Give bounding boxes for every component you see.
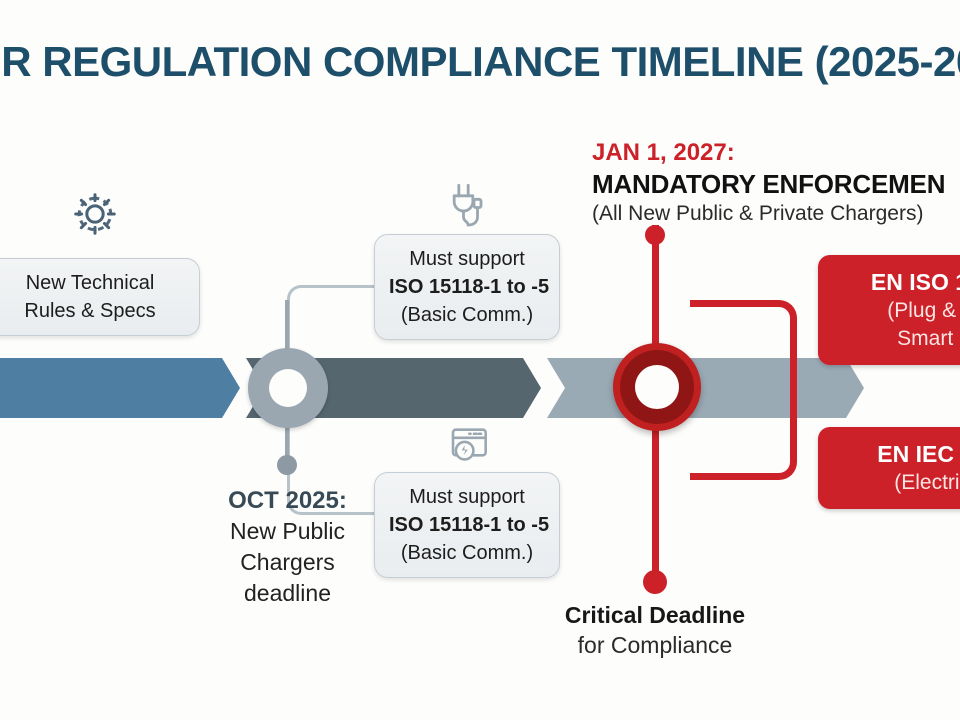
card-tech-line2: Rules & Specs — [0, 297, 185, 325]
connector-red-to-badge-top — [690, 300, 797, 392]
page-title: R REGULATION COMPLIANCE TIMELINE (2025-2… — [0, 38, 960, 86]
card-lower-line1: Must support — [389, 483, 545, 511]
card-lower-line2: ISO 15118-1 to -5 — [389, 511, 545, 539]
card-iso-lower[interactable]: Must support ISO 15118-1 to -5 (Basic Co… — [374, 472, 560, 578]
badge-bot-sub1: (Electrica — [834, 469, 960, 497]
card-lower-line3: (Basic Comm.) — [389, 539, 545, 567]
card-upper-line2: ISO 15118-1 to -5 — [389, 273, 545, 301]
oct-line1: New Public — [180, 516, 395, 547]
badge-en-iec-61851[interactable]: EN IEC 618 (Electrica — [818, 427, 960, 509]
left-milestone-line1: & — [0, 511, 15, 542]
left-milestone-label: 5: & ts — [0, 480, 15, 573]
certificate-browser-icon — [437, 418, 497, 474]
gear-icon — [65, 186, 125, 242]
badge-en-iso-15118[interactable]: EN ISO 1511 (Plug & Ch Smart Cl — [818, 255, 960, 365]
timeline-segment-early — [0, 358, 240, 418]
badge-top-sub1: (Plug & Ch — [834, 297, 960, 325]
oct-2025-label: OCT 2025: New Public Chargers deadline — [180, 485, 395, 609]
oct-line3: deadline — [180, 578, 395, 609]
jan-2027-date: JAN 1, 2027: — [592, 138, 960, 168]
critical-deadline-label: Critical Deadline for Compliance — [530, 600, 780, 660]
infographic-canvas: R REGULATION COMPLIANCE TIMELINE (2025-2… — [0, 0, 960, 720]
jan-2027-headline: MANDATORY ENFORCEMEN — [592, 168, 960, 200]
critical-deadline-line1: Critical Deadline — [530, 600, 780, 630]
card-iso-upper[interactable]: Must support ISO 15118-1 to -5 (Basic Co… — [374, 234, 560, 340]
jan-2027-node-marker[interactable] — [613, 343, 701, 431]
oct-node-end-dot — [277, 455, 297, 475]
jan-2027-milestone-label: JAN 1, 2027: MANDATORY ENFORCEMEN (All N… — [592, 138, 960, 228]
badge-top-sub2: Smart Cl — [834, 325, 960, 353]
oct-line2: Chargers — [180, 547, 395, 578]
card-tech-line1: New Technical — [0, 269, 185, 297]
plug-icon — [437, 176, 497, 232]
red-node-top-dot — [645, 225, 665, 245]
badge-bot-title: EN IEC 618 — [834, 439, 960, 469]
oct-2025-node-marker[interactable] — [248, 348, 328, 428]
left-milestone-date: 5: — [0, 480, 15, 511]
card-upper-line1: Must support — [389, 245, 545, 273]
connector-red-to-badge-bottom — [690, 388, 797, 480]
red-node-bottom-dot — [643, 570, 667, 594]
jan-2027-subtitle: (All New Public & Private Chargers) — [592, 200, 960, 228]
critical-deadline-line2: for Compliance — [530, 630, 780, 660]
left-milestone-line2: ts — [0, 542, 15, 573]
card-new-technical-rules[interactable]: New Technical Rules & Specs — [0, 258, 200, 336]
oct-date: OCT 2025: — [180, 485, 395, 516]
badge-top-title: EN ISO 1511 — [834, 267, 960, 297]
card-upper-line3: (Basic Comm.) — [389, 301, 545, 329]
red-node-stem-down — [652, 420, 659, 580]
